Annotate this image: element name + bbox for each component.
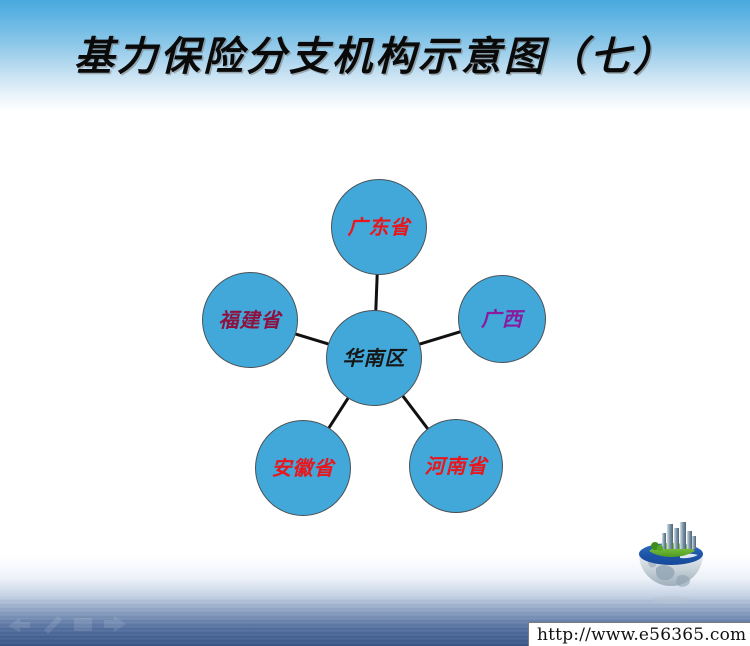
edge-center-to-fujian bbox=[295, 334, 329, 344]
node-label-guangdong: 广东省 bbox=[348, 217, 411, 237]
node-label-center: 华南区 bbox=[343, 348, 406, 368]
node-label-anhui: 安徽省 bbox=[272, 458, 335, 478]
node-guangxi[interactable]: 广西 bbox=[458, 275, 546, 363]
node-guangdong[interactable]: 广东省 bbox=[331, 179, 427, 275]
node-label-fujian: 福建省 bbox=[219, 310, 282, 330]
watermark-url-text: http://www.e56365.com bbox=[529, 625, 746, 645]
node-center[interactable]: 华南区 bbox=[326, 310, 422, 406]
water-watermark-shapes bbox=[4, 608, 154, 634]
node-fujian[interactable]: 福建省 bbox=[202, 272, 298, 368]
edge-center-to-guangxi bbox=[419, 332, 461, 345]
edge-center-to-anhui bbox=[328, 397, 348, 428]
node-label-henan: 河南省 bbox=[425, 456, 488, 476]
earth-city-globe-icon bbox=[636, 520, 706, 612]
node-label-guangxi: 广西 bbox=[481, 309, 523, 329]
edge-center-to-henan bbox=[402, 395, 428, 429]
slide-canvas: 基力保险分支机构示意图（七） 华南区广东省广西福建省安徽省河南省 bbox=[0, 0, 750, 646]
node-henan[interactable]: 河南省 bbox=[409, 419, 503, 513]
watermark-url-box: http://www.e56365.com bbox=[528, 622, 750, 646]
node-anhui[interactable]: 安徽省 bbox=[255, 420, 351, 516]
edge-center-to-guangdong bbox=[376, 274, 377, 311]
